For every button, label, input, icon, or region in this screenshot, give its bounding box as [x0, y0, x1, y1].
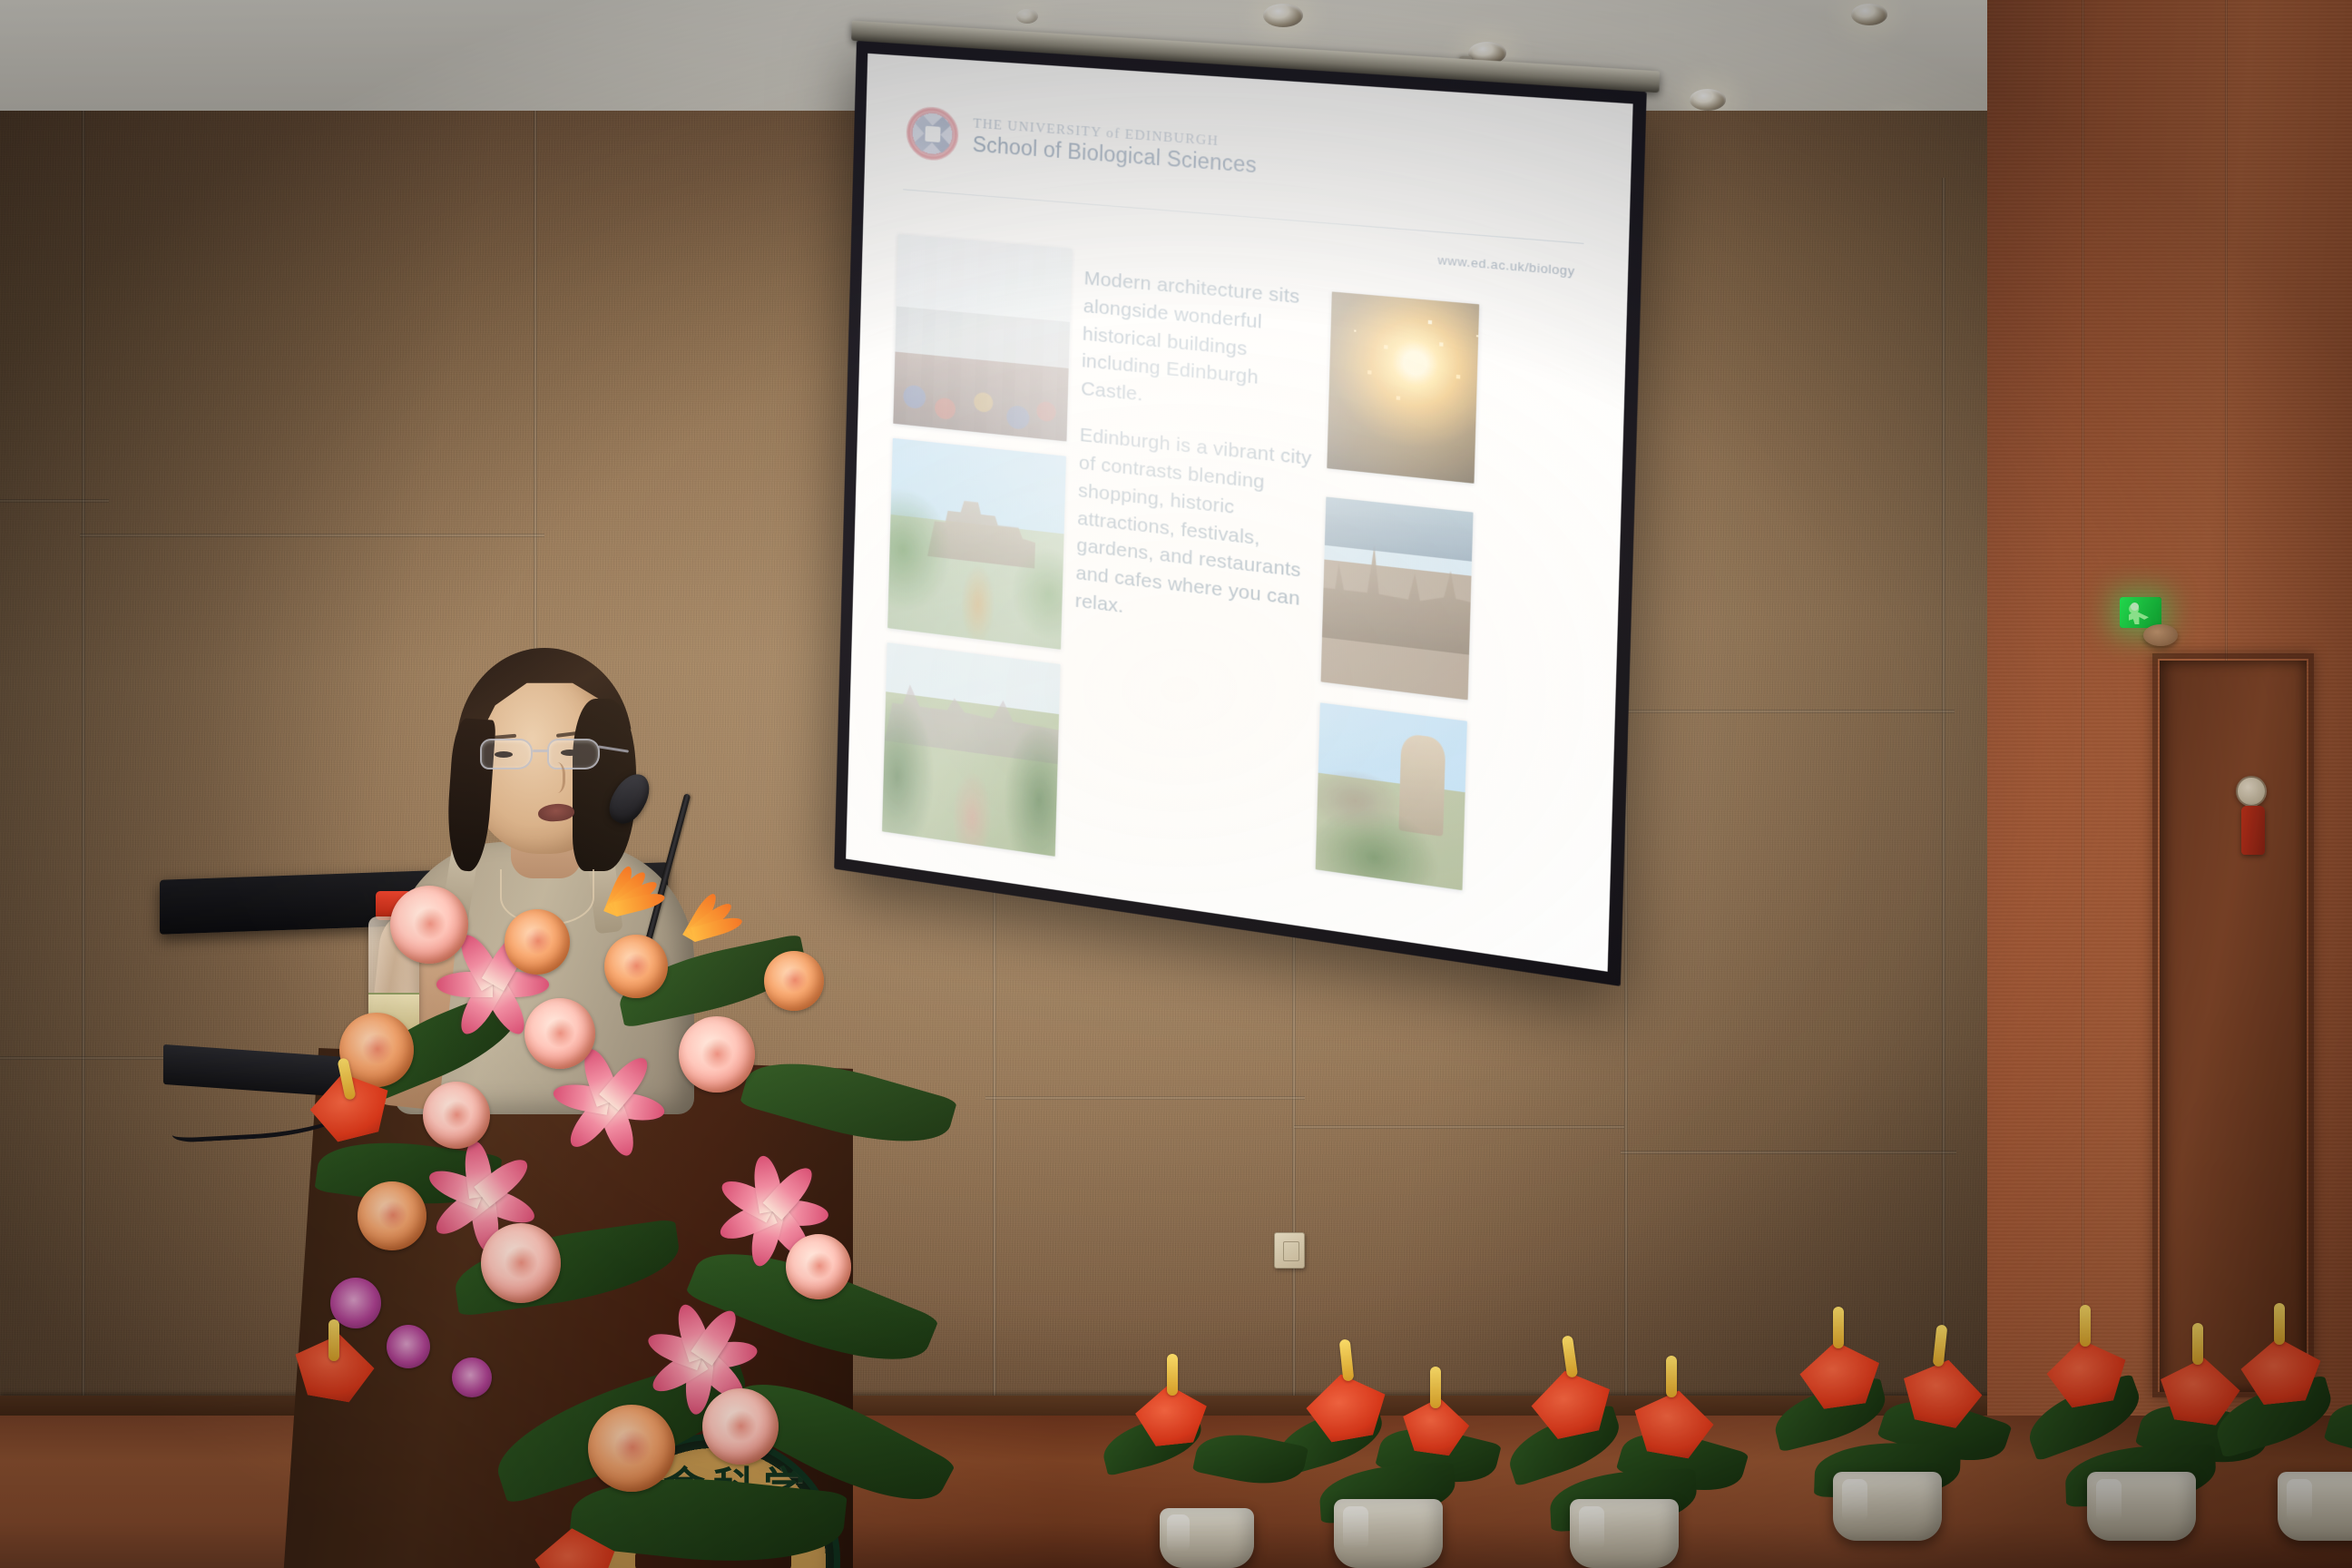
anthurium-spadix: [1933, 1324, 1948, 1367]
ceiling-downlight: [1263, 4, 1303, 27]
slide-divider: [903, 189, 1583, 244]
ceiling-downlight: [1690, 89, 1726, 111]
emergency-exit-sign: [2120, 597, 2161, 628]
ceiling-downlight: [1016, 9, 1038, 24]
bird-of-paradise-flower: [695, 875, 777, 942]
rose-flower: [764, 951, 824, 1011]
speaker-nose: [545, 762, 565, 793]
anthurium-foliage: [2214, 1307, 2352, 1497]
flower-pot: [1570, 1499, 1679, 1568]
slide-photo-skyline: [1321, 497, 1474, 700]
rose-flower: [588, 1405, 675, 1492]
slide-paragraph-2: Edinburgh is a vibrant city of contrasts…: [1074, 422, 1314, 643]
orchid-flower: [387, 1325, 430, 1368]
crest-center: [925, 125, 940, 142]
anthurium-foliage: [1769, 1307, 2005, 1497]
rose-flower: [481, 1223, 561, 1303]
flower-bouquet: [345, 844, 1053, 1568]
edinburgh-crest-icon: [904, 103, 961, 164]
brand-text: THE UNIVERSITY of EDINBURGH School of Bi…: [972, 117, 1257, 179]
flower-pot: [1334, 1499, 1443, 1568]
rose-flower: [390, 886, 468, 964]
potted-anthurium: [2196, 1105, 2352, 1541]
anthurium-spadix: [1167, 1354, 1178, 1396]
foliage-leaf: [1192, 1425, 1308, 1494]
rose-flower: [702, 1388, 779, 1465]
smoke-detector-icon: [2143, 624, 2178, 646]
anthurium-spadix: [1562, 1335, 1578, 1377]
screen-surface: THE UNIVERSITY of EDINBURGH School of Bi…: [846, 54, 1632, 972]
rose-flower: [604, 935, 668, 998]
bird-of-paradise-flower: [617, 849, 699, 916]
flower-pot: [1833, 1472, 1942, 1541]
anthurium-spadix: [328, 1319, 339, 1361]
slide-photo-gardens: [882, 642, 1061, 857]
lens-left: [480, 739, 533, 769]
rose-flower: [679, 1016, 755, 1093]
slide-text-block: Modern architecture sits alongside wonde…: [1068, 250, 1319, 892]
rose-flower: [423, 1082, 490, 1149]
potted-anthurium: [1488, 1207, 1760, 1568]
potted-anthurium: [1751, 1167, 2024, 1541]
anthurium-spadix: [2274, 1303, 2285, 1345]
anthurium-spadix: [1430, 1367, 1441, 1408]
slide-photo-calton-hill: [1316, 702, 1467, 890]
potted-anthurium: [1080, 1307, 1334, 1568]
flower-pot: [1160, 1508, 1254, 1568]
slide-branding: THE UNIVERSITY of EDINBURGH School of Bi…: [904, 103, 1258, 187]
wall-clock-icon: [2236, 776, 2267, 807]
conference-hall-photo: THE UNIVERSITY of EDINBURGH School of Bi…: [0, 0, 2352, 1568]
flower-pot: [2278, 1472, 2352, 1541]
presentation-slide: THE UNIVERSITY of EDINBURGH School of Bi…: [846, 54, 1632, 972]
anthurium-foliage: [1506, 1334, 1742, 1524]
anthurium-spadix: [1833, 1307, 1844, 1348]
flower-pot: [2087, 1472, 2196, 1541]
slide-photo-castle: [887, 438, 1066, 649]
anthurium-foliage: [1089, 1334, 1325, 1524]
orchid-flower: [452, 1357, 492, 1397]
rose-flower: [505, 909, 570, 975]
ceiling-downlight: [1851, 4, 1887, 25]
slide-paragraph-1: Modern architecture sits alongside wonde…: [1081, 265, 1318, 426]
slide-photo-royal-mile: [893, 234, 1072, 442]
running-man-icon: [2120, 597, 2161, 628]
slide-photo-fireworks: [1327, 291, 1479, 484]
slide-url: www.ed.ac.uk/biology: [1437, 252, 1575, 278]
rose-flower: [524, 998, 595, 1069]
anthurium-spadix: [2080, 1305, 2091, 1347]
rose-flower: [786, 1234, 851, 1299]
anthurium-spadix: [1666, 1356, 1677, 1397]
rose-flower: [358, 1181, 426, 1250]
slide-content: Modern architecture sits alongside wonde…: [882, 234, 1592, 931]
fire-extinguisher-icon: [2241, 806, 2265, 855]
